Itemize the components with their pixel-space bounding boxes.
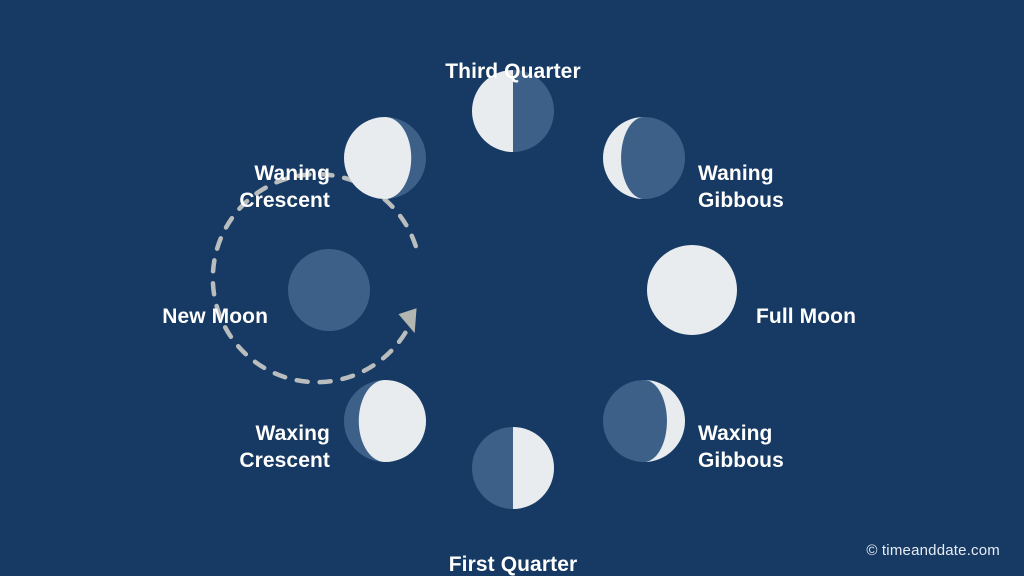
moon-lit-region	[513, 427, 554, 509]
moon-disc-waning-crescent	[344, 117, 426, 199]
phase-label-first-quarter: First Quarter	[413, 524, 613, 576]
phase-label-text: Waning Crescent	[239, 162, 330, 212]
moon-disc-full-moon	[647, 245, 737, 335]
phase-label-text: First Quarter	[449, 553, 578, 576]
moon-discs-layer	[288, 70, 737, 509]
phase-label-text: Third Quarter	[445, 60, 580, 83]
moon-phases-diagram: Third Quarter Waning Gibbous Full Moon W…	[0, 0, 1024, 576]
moon-disc-waxing-gibbous	[603, 380, 685, 462]
phase-label-waning-gibbous: Waning Gibbous	[698, 133, 918, 214]
moon-disc-waning-gibbous	[603, 117, 685, 199]
moon-disc-first-quarter	[472, 427, 554, 509]
phase-label-waxing-crescent: Waxing Crescent	[110, 393, 330, 474]
moon-lit-region	[344, 117, 411, 199]
moon-disc-new-moon	[288, 249, 370, 331]
phase-label-full-moon: Full Moon	[756, 276, 986, 330]
moon-base	[647, 245, 737, 335]
phase-label-third-quarter: Third Quarter	[413, 31, 613, 85]
phase-label-text: Waning Gibbous	[698, 162, 784, 212]
moon-base	[288, 249, 370, 331]
copyright-credit: © timeanddate.com	[866, 542, 1000, 559]
moon-lit-region	[359, 380, 426, 462]
moon-disc-waxing-crescent	[344, 380, 426, 462]
phase-label-waning-crescent: Waning Crescent	[110, 133, 330, 214]
phase-label-text: Full Moon	[756, 305, 856, 328]
phase-label-text: Waxing Gibbous	[698, 422, 784, 472]
phase-label-waxing-gibbous: Waxing Gibbous	[698, 393, 918, 474]
phase-label-new-moon: New Moon	[48, 276, 268, 330]
phase-label-text: New Moon	[162, 305, 268, 328]
phase-label-text: Waxing Crescent	[239, 422, 330, 472]
